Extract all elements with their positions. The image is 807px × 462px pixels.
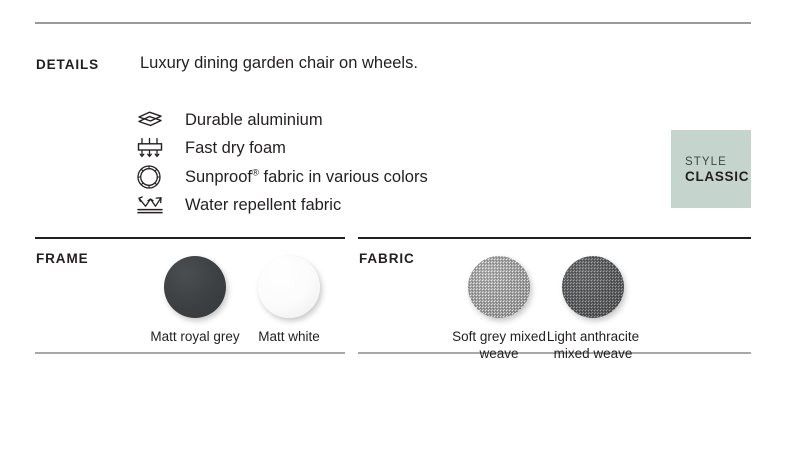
details-section-label: DETAILS: [36, 57, 99, 72]
style-badge-value: CLASSIC: [685, 169, 751, 186]
divider-top: [35, 22, 751, 24]
feature-label-text: Water repellent fabric: [185, 196, 341, 214]
feature-label: Sunproof® fabric in various colors: [176, 168, 428, 187]
layers-icon: [136, 107, 176, 133]
swatch-fabric-circle[interactable]: [468, 256, 530, 318]
feature-label: Durable aluminium: [176, 111, 323, 130]
swatch-label: Soft grey mixed weave: [445, 328, 553, 362]
feature-label: Fast dry foam: [176, 139, 286, 158]
feature-label-text-continued: fabric in various colors: [259, 168, 428, 186]
fabric-section-label: FABRIC: [359, 251, 415, 266]
product-description: Luxury dining garden chair on wheels.: [140, 54, 418, 73]
feature-label: Water repellent fabric: [176, 196, 341, 215]
swatch-label: Matt royal grey: [141, 328, 249, 345]
swatch-item[interactable]: Matt royal grey: [148, 256, 242, 345]
swatch-item[interactable]: Soft grey mixed weave: [452, 256, 546, 362]
fabric-swatch-group: Soft grey mixed weave Light anthracite m…: [452, 256, 640, 362]
swatch-fabric-circle[interactable]: [562, 256, 624, 318]
divider-frame-bottom: [35, 352, 345, 354]
swatch-item[interactable]: Matt white: [242, 256, 336, 345]
feature-item: Water repellent fabric: [136, 192, 428, 221]
divider-fabric-top: [358, 237, 751, 239]
registered-trademark-symbol: ®: [252, 167, 259, 178]
swatch-label: Light anthracite mixed weave: [539, 328, 647, 362]
feature-label-text: Sunproof: [185, 168, 252, 186]
feature-label-text: Fast dry foam: [185, 139, 286, 157]
sun-ring-icon: [136, 164, 176, 190]
feature-list: Durable aluminium Fast dry foam Sunproof…: [136, 106, 428, 220]
frame-section-label: FRAME: [36, 251, 89, 266]
water-repellent-icon: [136, 193, 176, 219]
feature-item: Durable aluminium: [136, 106, 428, 135]
style-badge: STYLE CLASSIC: [671, 130, 751, 208]
swatch-item[interactable]: Light anthracite mixed weave: [546, 256, 640, 362]
feature-label-text: Durable aluminium: [185, 111, 323, 129]
swatch-color-circle[interactable]: [258, 256, 320, 318]
fast-dry-foam-icon: [136, 136, 176, 162]
style-badge-kicker: STYLE: [685, 155, 751, 169]
frame-swatch-group: Matt royal grey Matt white: [148, 256, 336, 345]
feature-item: Fast dry foam: [136, 135, 428, 164]
feature-item: Sunproof® fabric in various colors: [136, 163, 428, 192]
swatch-color-circle[interactable]: [164, 256, 226, 318]
swatch-label: Matt white: [235, 328, 343, 345]
product-spec-sheet: { "rules": { "color_top": "#9a9a9a", "co…: [0, 0, 807, 462]
divider-frame-top: [35, 237, 345, 239]
